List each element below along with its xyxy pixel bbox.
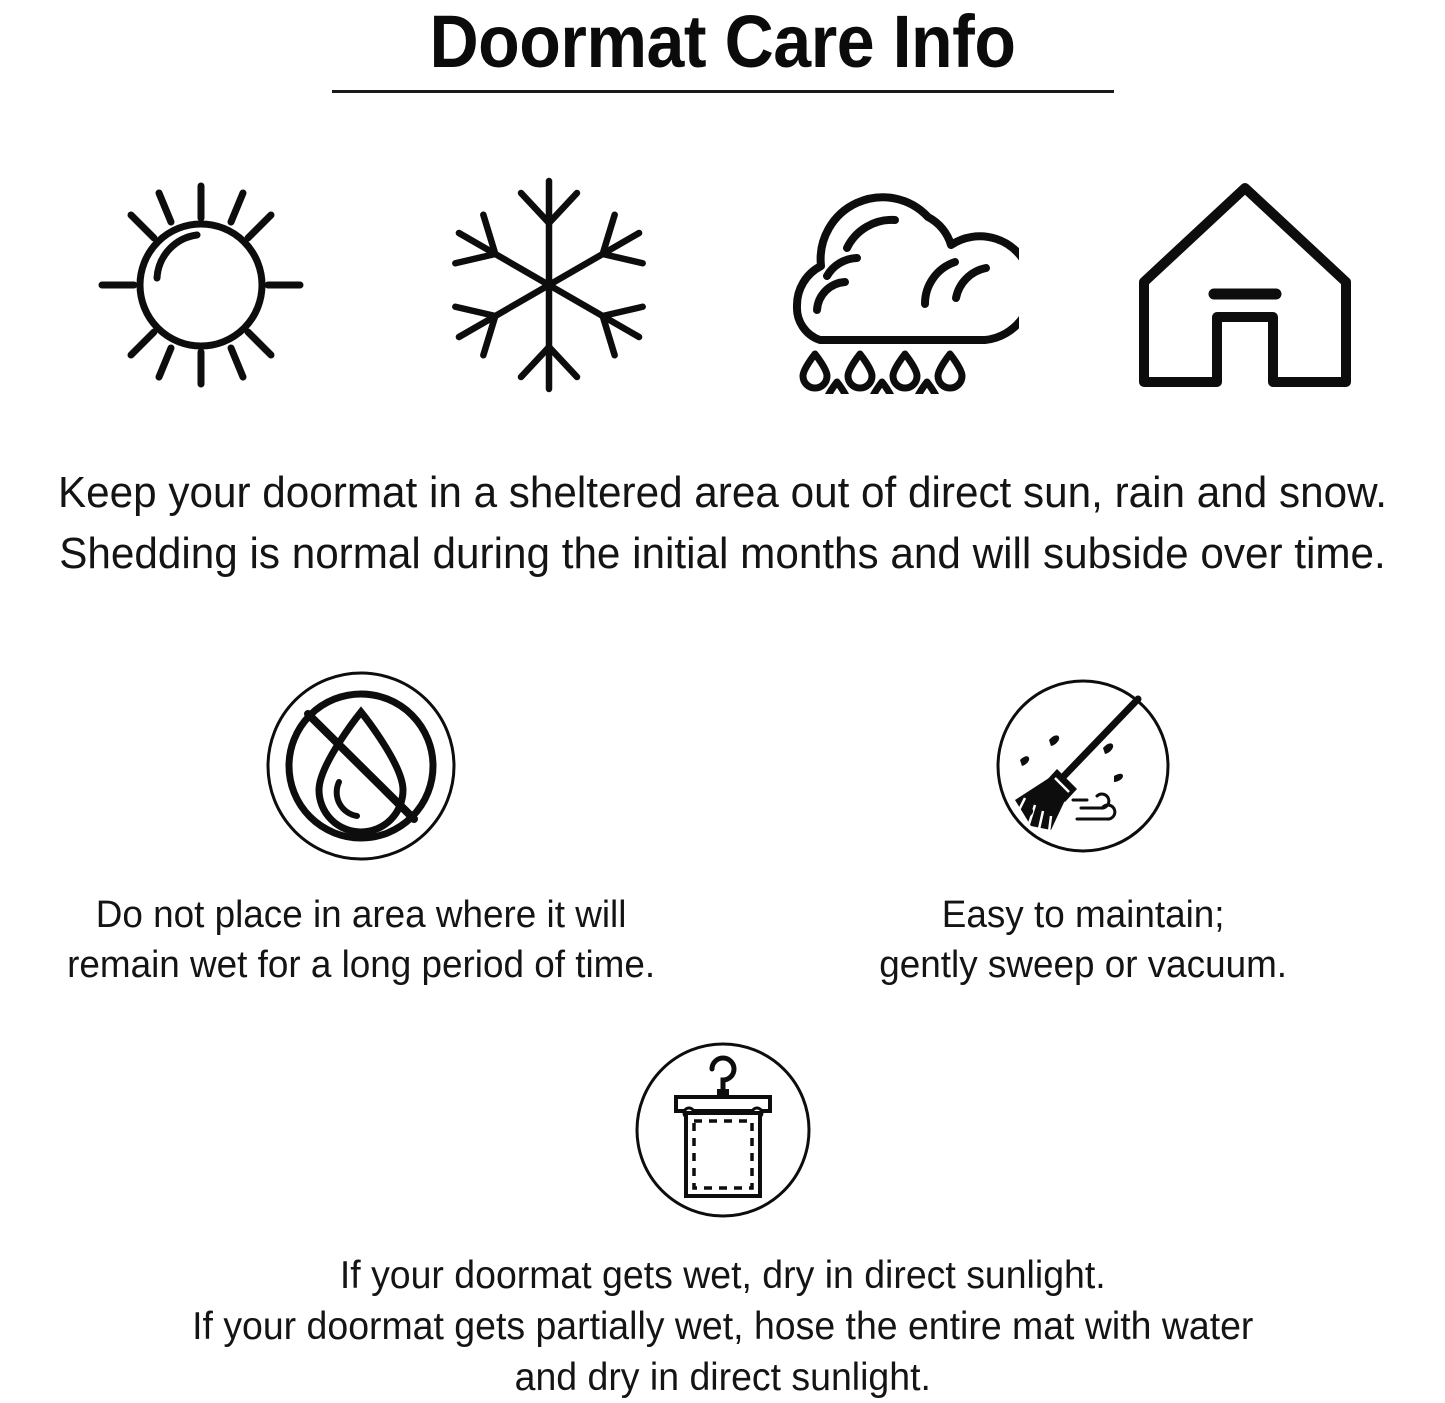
- rain-cloud-icon: [775, 176, 1019, 394]
- drying-instruction-block: If your doormat gets wet, dry in direct …: [0, 1030, 1445, 1403]
- care-instruction-row: Do not place in area where it will remai…: [0, 660, 1445, 990]
- weather-cell-house: [1071, 170, 1419, 400]
- care-column-no-water: Do not place in area where it will remai…: [0, 660, 722, 990]
- hang-dry-icon-wrapper: [632, 1030, 814, 1230]
- sweep-caption: Easy to maintain; gently sweep or vacuum…: [873, 890, 1293, 990]
- broom-sweep-icon: [995, 678, 1171, 854]
- snowflake-icon: [442, 174, 656, 396]
- page-title: Doormat Care Info: [58, 0, 1387, 82]
- hang-dry-icon: [632, 1039, 814, 1221]
- no-water-icon: [263, 668, 459, 864]
- broom-sweep-icon-wrapper: [995, 660, 1171, 872]
- drying-caption-line-2: If your doormat gets partially wet, hose…: [192, 1301, 1253, 1352]
- no-water-caption-line-1: Do not place in area where it will: [67, 890, 655, 940]
- care-column-sweep: Easy to maintain; gently sweep or vacuum…: [722, 660, 1444, 990]
- weather-cell-snowflake: [375, 170, 723, 400]
- no-water-caption-line-2: remain wet for a long period of time.: [67, 940, 655, 990]
- drying-caption: If your doormat gets wet, dry in direct …: [170, 1250, 1276, 1403]
- sweep-caption-line-1: Easy to maintain;: [879, 890, 1287, 940]
- drying-caption-line-3: and dry in direct sunlight.: [192, 1352, 1253, 1403]
- title-block: Doormat Care Info: [0, 0, 1445, 93]
- weather-icon-row: [0, 170, 1445, 400]
- intro-line-1: Keep your doormat in a sheltered area ou…: [29, 462, 1416, 523]
- sun-icon: [85, 174, 317, 396]
- no-water-icon-wrapper: [263, 660, 459, 872]
- no-water-caption: Do not place in area where it will remai…: [58, 890, 664, 990]
- drying-caption-line-1: If your doormat gets wet, dry in direct …: [192, 1250, 1253, 1301]
- intro-paragraph: Keep your doormat in a sheltered area ou…: [0, 462, 1445, 584]
- weather-cell-rain-cloud: [723, 170, 1071, 400]
- title-underline-rule: [332, 90, 1114, 93]
- sweep-caption-line-2: gently sweep or vacuum.: [879, 940, 1287, 990]
- weather-cell-sun: [27, 170, 375, 400]
- intro-line-2: Shedding is normal during the initial mo…: [29, 523, 1416, 584]
- house-icon: [1130, 177, 1360, 393]
